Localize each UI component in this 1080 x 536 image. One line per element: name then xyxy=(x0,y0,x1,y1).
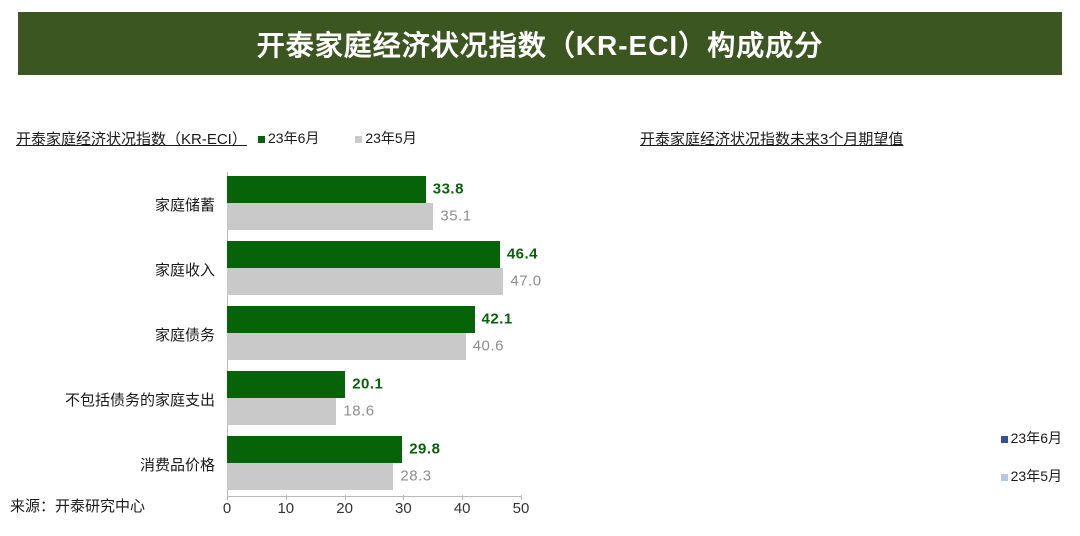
bar-group: 29.828.3 xyxy=(227,436,521,490)
right-chart-panel: 开泰家庭经济状况指数未来3个月期望值 23年6月 23年5月 39.940.34… xyxy=(600,110,1080,530)
bar-row: 40.6 xyxy=(227,333,521,360)
left-chart-title: 开泰家庭经济状况指数（KR-ECI） xyxy=(16,128,247,149)
bar[interactable] xyxy=(227,333,466,360)
bar-value-label: 18.6 xyxy=(343,403,374,420)
legend-swatch-icon xyxy=(1001,436,1008,443)
bar-row: 18.6 xyxy=(227,398,521,425)
right-chart-title: 开泰家庭经济状况指数未来3个月期望值 xyxy=(640,128,903,149)
right-chart-legend: 23年6月 23年5月 xyxy=(1001,428,1062,486)
tick-label: 50 xyxy=(513,500,530,517)
tick-label: 30 xyxy=(395,500,412,517)
right-chart-x-tick-labels: 0102030405060 xyxy=(600,501,1080,525)
category-label: 家庭收入 xyxy=(155,259,215,280)
bar-row: 29.8 xyxy=(227,436,521,463)
legend-item-may23[interactable]: 23年5月 xyxy=(355,128,416,148)
legend-label: 23年5月 xyxy=(365,128,416,148)
legend-item-jun23[interactable]: 23年6月 xyxy=(1001,428,1062,448)
bar-row: 47.0 xyxy=(227,268,521,295)
tick-label: 10 xyxy=(277,500,294,517)
page-title: 开泰家庭经济状况指数（KR-ECI）构成成分 xyxy=(257,24,823,64)
bar[interactable] xyxy=(227,306,475,333)
bar[interactable] xyxy=(227,241,500,268)
category-label: 家庭储蓄 xyxy=(155,194,215,215)
bar-row: 42.1 xyxy=(227,306,521,333)
bar[interactable] xyxy=(227,463,393,490)
bar-value-label: 46.4 xyxy=(507,246,538,263)
bar-group: 46.447.0 xyxy=(227,241,521,295)
legend-item-may23[interactable]: 23年5月 xyxy=(1001,466,1062,486)
legend-swatch-icon xyxy=(1001,474,1008,481)
bar-group: 33.835.1 xyxy=(227,176,521,230)
legend-swatch-icon xyxy=(258,136,265,143)
bar-value-label: 35.1 xyxy=(440,208,471,225)
legend-swatch-icon xyxy=(355,136,362,143)
category-label: 不包括债务的家庭支出 xyxy=(65,389,215,410)
category-label: 消费品价格 xyxy=(140,454,215,475)
title-banner: 开泰家庭经济状况指数（KR-ECI）构成成分 xyxy=(18,12,1062,75)
bar-value-label: 20.1 xyxy=(352,376,383,393)
legend-label: 23年6月 xyxy=(1011,428,1062,448)
bar-row: 35.1 xyxy=(227,203,521,230)
bar[interactable] xyxy=(227,436,402,463)
category-label: 家庭债务 xyxy=(155,324,215,345)
bar-value-label: 40.6 xyxy=(473,338,504,355)
bar[interactable] xyxy=(227,398,336,425)
legend-item-jun23[interactable]: 23年6月 xyxy=(258,128,319,148)
bar-group: 42.140.6 xyxy=(227,306,521,360)
tick-label: 40 xyxy=(454,500,471,517)
bar-value-label: 28.3 xyxy=(400,468,431,485)
source-note: 来源：开泰研究中心 xyxy=(10,495,145,516)
bar-row: 20.1 xyxy=(227,371,521,398)
legend-label: 23年6月 xyxy=(268,128,319,148)
bar-value-label: 33.8 xyxy=(433,181,464,198)
left-chart-x-axis xyxy=(227,496,521,497)
tick-label: 0 xyxy=(223,500,231,517)
left-chart-plot-area: 33.835.146.447.042.140.620.118.629.828.3 xyxy=(227,172,521,497)
bar-row: 33.8 xyxy=(227,176,521,203)
left-chart-panel: 开泰家庭经济状况指数（KR-ECI） 23年6月 23年5月 家庭储蓄家庭收入家… xyxy=(0,110,600,530)
bar[interactable] xyxy=(227,371,345,398)
bar[interactable] xyxy=(227,176,426,203)
bar-value-label: 42.1 xyxy=(482,311,513,328)
bar-row: 46.4 xyxy=(227,241,521,268)
bar[interactable] xyxy=(227,268,503,295)
legend-label: 23年5月 xyxy=(1011,466,1062,486)
bar-value-label: 47.0 xyxy=(510,273,541,290)
left-chart-category-labels: 家庭储蓄家庭收入家庭债务不包括债务的家庭支出消费品价格 xyxy=(0,172,221,497)
bar-value-label: 29.8 xyxy=(409,441,440,458)
tick-label: 20 xyxy=(336,500,353,517)
left-chart-legend: 23年6月 23年5月 xyxy=(258,128,417,148)
bar-row: 28.3 xyxy=(227,463,521,490)
bar[interactable] xyxy=(227,203,433,230)
bar-group: 20.118.6 xyxy=(227,371,521,425)
